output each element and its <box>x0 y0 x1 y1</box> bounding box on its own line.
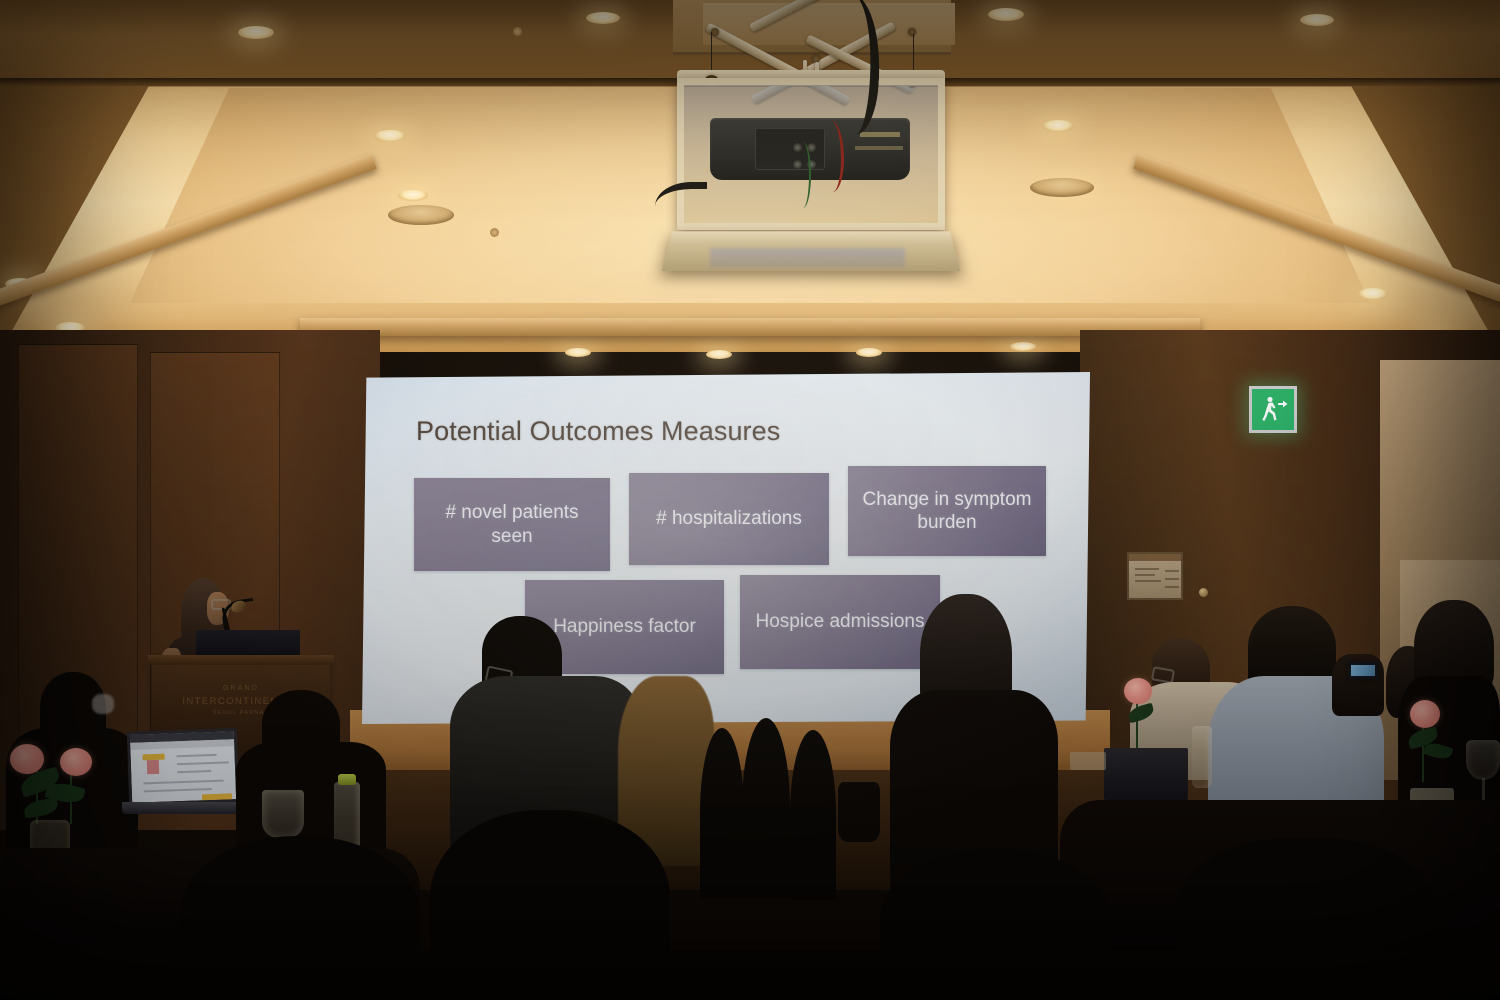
water-bottle <box>1192 726 1212 788</box>
ceiling-vent <box>1030 178 1094 197</box>
ceiling-downlight <box>1010 342 1036 351</box>
carnation-flower <box>1410 700 1440 728</box>
laptop-thumbnail <box>147 760 159 774</box>
door-knob <box>1199 588 1208 597</box>
notice-line <box>1165 578 1179 580</box>
projector-tray-reflection <box>710 248 905 268</box>
notice-line <box>1165 570 1179 572</box>
ceiling-sprinkler <box>490 228 499 237</box>
laptop-content-line <box>177 754 217 757</box>
smartphone <box>1348 662 1378 679</box>
projector-cable-green <box>795 142 811 208</box>
chair-back <box>790 730 836 900</box>
notice-line <box>1165 586 1179 588</box>
laptop-content-line <box>144 788 212 792</box>
exit-running-man-icon <box>1256 393 1290 427</box>
slide-title: Potential Outcomes Measures <box>416 416 780 447</box>
scissor-pivot <box>908 28 916 36</box>
ceiling-downlight <box>586 12 620 24</box>
projector-label <box>855 146 903 150</box>
handbag-on-table <box>838 782 880 842</box>
water-bottle-cap <box>338 774 356 785</box>
ceiling-downlight <box>706 350 732 359</box>
ceiling-downlight <box>1358 288 1388 300</box>
notice-line <box>1135 580 1161 582</box>
audience-laptop-screen <box>127 728 240 806</box>
projector-cable-black <box>655 182 707 217</box>
podium-top-surface <box>148 655 334 665</box>
ceiling-sprinkler <box>513 27 522 36</box>
wine-glass-stem <box>1482 778 1485 800</box>
conference-room-photo: Potential Outcomes Measures # novel pati… <box>0 0 1500 1000</box>
laptop-submit-button <box>202 793 232 800</box>
laptop-content-line <box>177 770 211 773</box>
ceiling-projector-assembly <box>655 0 965 285</box>
exit-sign <box>1249 386 1297 433</box>
wine-glass <box>1466 740 1500 780</box>
audience-laptop-right <box>1104 748 1188 800</box>
scissor-pivot <box>711 28 719 36</box>
slide-box-symptom-burden: Change in symptom burden <box>848 466 1046 556</box>
notice-line <box>1135 574 1155 576</box>
ceiling-downlight <box>1042 120 1074 132</box>
notice-line <box>1135 568 1159 570</box>
carnation-flower <box>10 744 44 774</box>
smartphone-screen <box>1351 665 1375 676</box>
ceiling-downlight <box>565 348 591 357</box>
notice-header-bar <box>1129 554 1181 561</box>
carnation-flower <box>60 748 92 776</box>
paper-document <box>1070 752 1106 770</box>
slide-box-hospice-admissions: Hospice admissions <box>740 575 940 669</box>
slide-box-novel-patients: # novel patients seen <box>414 478 610 571</box>
crown-molding-front <box>300 318 1200 336</box>
ceiling-downlight <box>1300 14 1334 26</box>
laptop-content-line <box>144 780 224 785</box>
ceiling-downlight <box>856 348 882 357</box>
wall-evacuation-notice <box>1127 552 1183 600</box>
projector-label <box>860 132 900 137</box>
carnation-flower <box>1124 678 1152 704</box>
ceiling-vent <box>388 205 454 225</box>
ceiling-downlight <box>374 130 406 142</box>
laptop-content-line <box>177 761 229 765</box>
water-glass <box>262 790 304 838</box>
foreground-floor-shadow <box>0 950 1500 1000</box>
ceiling-downlight <box>988 8 1024 21</box>
ceiling-downlight <box>398 190 428 201</box>
audience-laptop-base <box>122 802 246 814</box>
chair-back <box>742 718 790 898</box>
ceiling-downlight <box>238 26 274 39</box>
slide-box-hospitalizations: # hospitalizations <box>629 473 829 565</box>
chair-back <box>700 728 744 898</box>
audience-mask <box>92 694 114 714</box>
